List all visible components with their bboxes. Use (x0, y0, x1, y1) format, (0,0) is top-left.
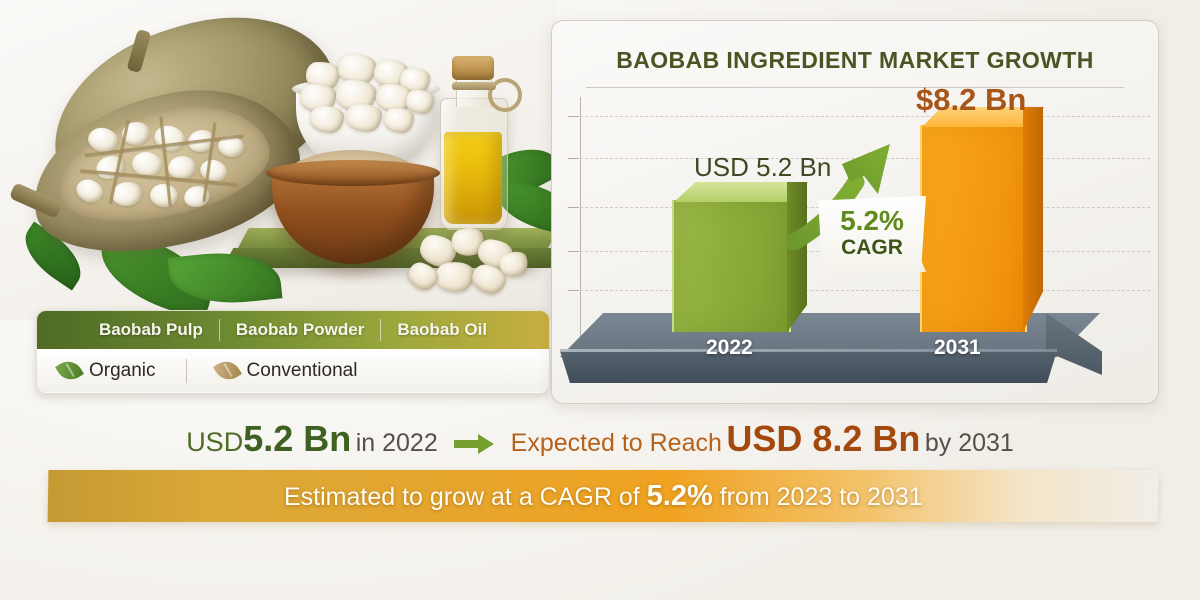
oil-liquid (444, 132, 502, 224)
cagr-word: CAGR (841, 235, 903, 261)
cagr-banner-text: Estimated to grow at a CAGR of 5.2% from… (284, 480, 923, 513)
legend-item-conventional[interactable]: Conventional (217, 360, 358, 382)
summary-start-year: in 2022 (356, 429, 438, 457)
product-photo-collage (0, 0, 556, 320)
y-axis-tick (568, 290, 579, 291)
y-axis-tick (568, 116, 579, 117)
summary-line: USD5.2 Bn in 2022 Expected to Reach USD … (0, 418, 1200, 460)
cork-stopper (452, 56, 494, 80)
chart-platform-edge (560, 349, 1057, 352)
x-axis-label-2022: 2022 (706, 336, 753, 360)
right-arrow-icon (454, 434, 494, 459)
title-divider (586, 87, 1124, 88)
bar-front-face (672, 200, 791, 332)
leaf-icon (55, 356, 84, 385)
twine-wrap (452, 82, 496, 90)
baobab-pulp-chunk (384, 108, 414, 133)
cagr-callout: 5.2% CAGR (818, 196, 926, 272)
x-axis-label-2031: 2031 (934, 336, 981, 360)
chart-platform-front (560, 351, 1057, 383)
bar-front-face (920, 125, 1027, 332)
bar-2031[interactable] (920, 125, 1023, 332)
product-legend-card: Baobab Pulp Baobab Powder Baobab Oil Org… (36, 310, 550, 394)
wooden-bowl-rim (266, 160, 440, 186)
product-tag-bar: Baobab Pulp Baobab Powder Baobab Oil (37, 311, 549, 349)
product-tag-powder[interactable]: Baobab Powder (220, 320, 380, 340)
summary-usd-prefix: USD (186, 427, 243, 457)
y-axis-tick (568, 251, 579, 252)
summary-end-year: by 2031 (925, 429, 1014, 457)
value-label-2031: $8.2 Bn (916, 82, 1026, 118)
legend-item-organic[interactable]: Organic (59, 360, 156, 382)
summary-expected-text: Expected to Reach (511, 429, 722, 457)
gridline (580, 116, 1150, 117)
baobab-pulp-chunk (346, 104, 382, 132)
legend-label-organic: Organic (89, 360, 156, 382)
product-tag-oil[interactable]: Baobab Oil (381, 320, 503, 340)
banner-text-part2: from 2023 to 2031 (712, 483, 922, 511)
y-axis-line (580, 97, 581, 359)
summary-end-value: USD 8.2 Bn (726, 418, 920, 459)
type-legend-row: Organic Conventional (37, 349, 549, 392)
summary-start-value: 5.2 Bn (243, 418, 351, 459)
legend-divider (186, 359, 187, 383)
leaf-icon (213, 356, 242, 385)
legend-label-conventional: Conventional (247, 360, 358, 382)
cagr-percent: 5.2% (840, 207, 904, 235)
y-axis-tick (568, 158, 579, 159)
bar-2022[interactable] (672, 200, 787, 332)
banner-highlight: 5.2% (646, 480, 712, 512)
banner-text-part1: Estimated to grow at a CAGR of (284, 483, 647, 511)
cagr-banner: Estimated to grow at a CAGR of 5.2% from… (48, 470, 1159, 522)
product-tag-pulp[interactable]: Baobab Pulp (83, 320, 219, 340)
infographic-canvas: Baobab Pulp Baobab Powder Baobab Oil Org… (0, 0, 1200, 600)
gridline (580, 290, 1150, 291)
chart-title: BAOBAB INGREDIENT MARKET GROWTH (552, 47, 1158, 74)
y-axis-tick (568, 207, 579, 208)
bottle-neck (456, 76, 492, 107)
baobab-pulp-chunk (310, 106, 344, 133)
